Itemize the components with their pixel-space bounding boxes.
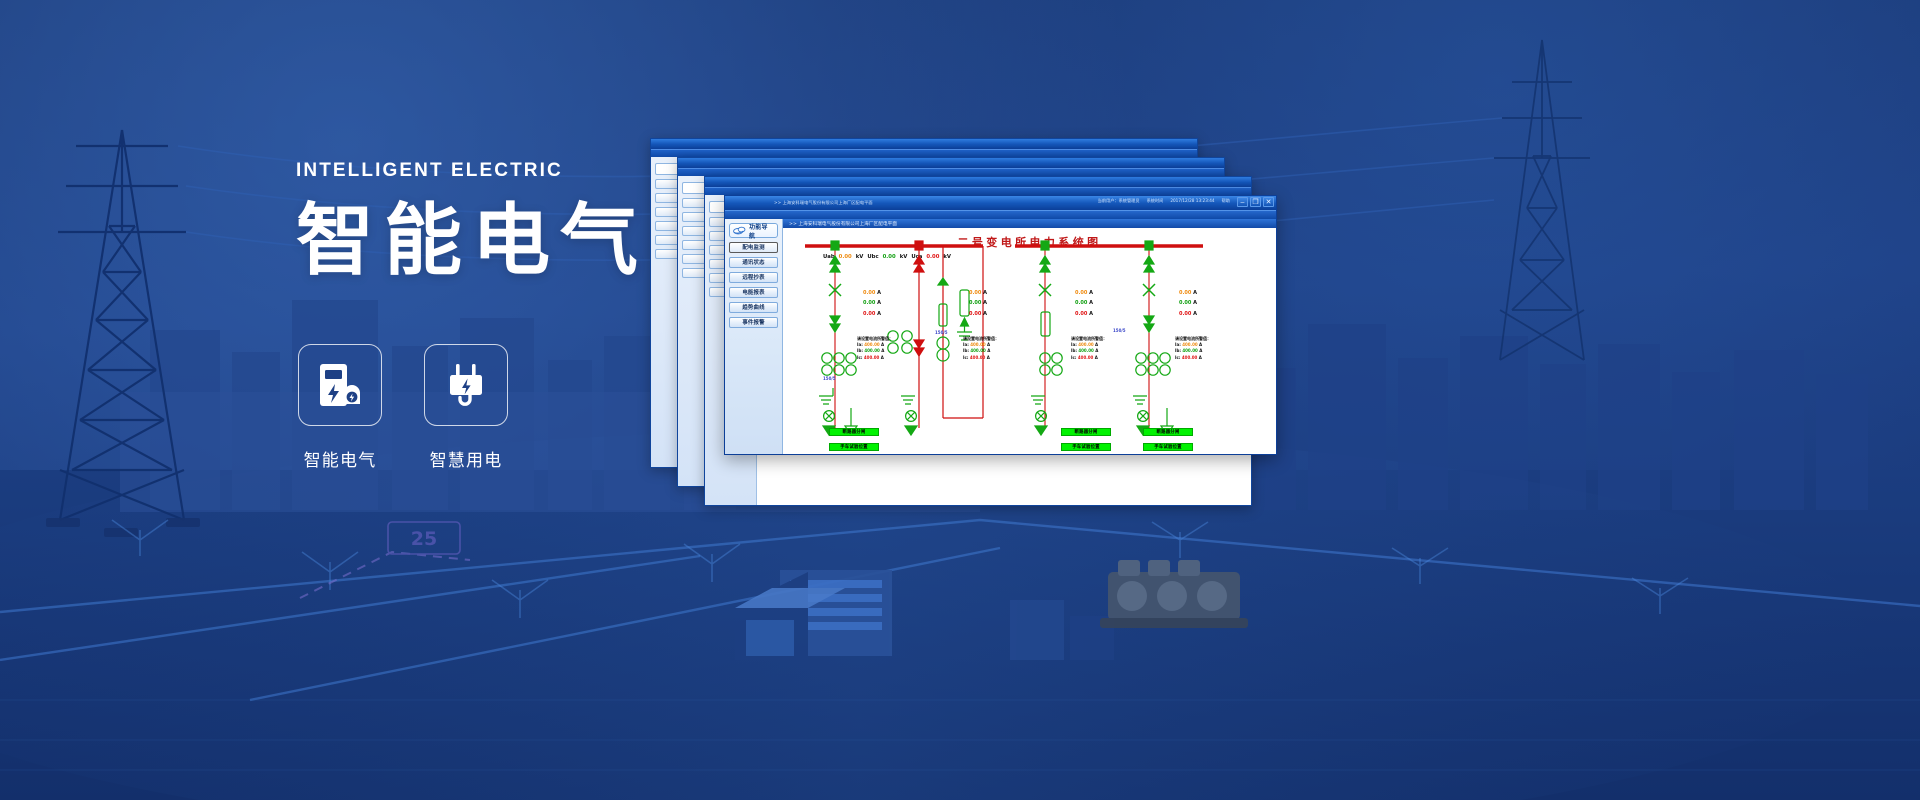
window-subbar: [678, 168, 1224, 176]
window-titlebar[interactable]: >> 上海安科瑞电气股份有限公司上海厂区配电平面 当前用户：系统管理员 系统时间…: [725, 196, 1276, 210]
sidebar-item-event-alarm[interactable]: 事件报警: [729, 317, 778, 329]
window-subbar: [651, 149, 1197, 157]
sidebar-item-trend-curve[interactable]: 趋势曲线: [729, 302, 778, 314]
window-status-area: 当前用户：系统管理员 系统时间 2017/12/28 13:23:44 帮助: [1098, 198, 1230, 204]
feature-caption: 智慧用电: [424, 446, 508, 471]
help-link[interactable]: 帮助: [1222, 198, 1230, 204]
current-readout-feeder-2: 0.00 A 0.00 A 0.00 A: [969, 288, 987, 319]
sidebar-item-power-monitoring[interactable]: 配电监测: [729, 242, 778, 254]
system-time-value: 2017/12/28 13:23:44: [1170, 198, 1214, 204]
ct-ratio-feeder-1: 150/5: [823, 376, 836, 381]
status-breaker-open-right[interactable]: 断路器分闸: [1143, 428, 1193, 436]
window-titlebar[interactable]: [651, 139, 1197, 149]
alarm-settings-feeder-2[interactable]: 请设置电流所警值： Ia: 400.00 A Ib: 400.00 A Ic: …: [963, 336, 999, 361]
close-button[interactable]: ✕: [1263, 197, 1274, 207]
ct-ratio-feeder-3: 150/5: [1113, 328, 1126, 333]
alarm-settings-feeder-4[interactable]: 请设置电流所警值： Ia: 400.00 A Ib: 400.00 A Ic: …: [1175, 336, 1211, 361]
maximize-button[interactable]: ❐: [1250, 197, 1261, 207]
status-breaker-open-left[interactable]: 断路器分闸: [829, 428, 879, 436]
status-truck-test-left[interactable]: 手车试验位置: [829, 443, 879, 451]
function-nav-title: 功能导航: [749, 222, 774, 240]
charging-meter-icon: [317, 361, 363, 409]
content-area: >> 上海安科瑞电气股份有限公司上海厂区配电平面 二号变电所电力系统图 Uab …: [783, 219, 1276, 454]
feature-smart-power[interactable]: 智慧用电: [424, 344, 508, 471]
svg-text:25: 25: [411, 528, 437, 550]
breadcrumb: >> 上海安科瑞电气股份有限公司上海厂区配电平面: [783, 219, 1276, 228]
current-readout-feeder-4: 0.00 A 0.00 A 0.00 A: [1179, 288, 1197, 319]
window-controls: – ❐ ✕: [1237, 197, 1274, 207]
power-plug-icon: [443, 361, 489, 409]
current-readout-feeder-1: 0.00 A 0.00 A 0.00 A: [863, 288, 881, 319]
ct-ratio-feeder-2: 150/5: [935, 330, 948, 335]
feature-tile: [424, 344, 508, 426]
current-readout-feeder-3: 0.00 A 0.00 A 0.00 A: [1075, 288, 1093, 319]
window-subbar: [725, 210, 1276, 219]
feature-caption: 智能电气: [298, 446, 382, 471]
window-app-title: >> 上海安科瑞电气股份有限公司上海厂区配电平面: [728, 200, 873, 206]
function-navigation-panel[interactable]: 功能导航 配电监测 通讯状态 远程抄表 电能报表 趋势曲线 事件报警: [725, 219, 783, 454]
feature-list: 智能电气 智慧用电: [298, 344, 508, 471]
window-titlebar[interactable]: [678, 158, 1224, 168]
status-truck-test-mid[interactable]: 手车试验位置: [1061, 443, 1111, 451]
status-breaker-open-mid[interactable]: 断路器分闸: [1061, 428, 1111, 436]
status-truck-test-right[interactable]: 手车试验位置: [1143, 443, 1193, 451]
alarm-settings-feeder-1[interactable]: 请设置电流所警值： Ia: 400.00 A Ib: 400.00 A Ic: …: [857, 336, 893, 361]
function-nav-header: 功能导航: [729, 223, 778, 238]
minimize-button[interactable]: –: [1237, 197, 1248, 207]
feature-intelligent-electric[interactable]: 智能电气: [298, 344, 382, 471]
single-line-diagram[interactable]: 二号变电所电力系统图 Uab 0.00 kV Ubc 0.00 kV Uca 0…: [783, 228, 1276, 454]
feature-tile: [298, 344, 382, 426]
hero-banner: 25: [0, 0, 1920, 800]
alarm-settings-feeder-3[interactable]: 请设置电流所警值： Ia: 400.00 A Ib: 400.00 A Ic: …: [1071, 336, 1107, 361]
window-subbar: [705, 187, 1251, 195]
cloud-nav-icon: [733, 226, 746, 235]
application-window-stack: >> 上海安科瑞电气股份有限公司上海厂区配电平面 当前用户：系统管理员 系统时间…: [650, 138, 1290, 538]
window-titlebar[interactable]: [705, 177, 1251, 187]
window-main: 功能导航 配电监测 通讯状态 远程抄表 电能报表 趋势曲线 事件报警 >> 上海…: [725, 219, 1276, 454]
current-user-label: 当前用户：系统管理员: [1098, 198, 1140, 204]
sidebar-item-energy-report[interactable]: 电能报表: [729, 287, 778, 299]
window-front-scada[interactable]: >> 上海安科瑞电气股份有限公司上海厂区配电平面 当前用户：系统管理员 系统时间…: [724, 195, 1277, 455]
sidebar-item-remote-reading[interactable]: 远程抄表: [729, 272, 778, 284]
sidebar-item-comm-status[interactable]: 通讯状态: [729, 257, 778, 269]
system-time-label: 系统时间: [1147, 198, 1164, 204]
